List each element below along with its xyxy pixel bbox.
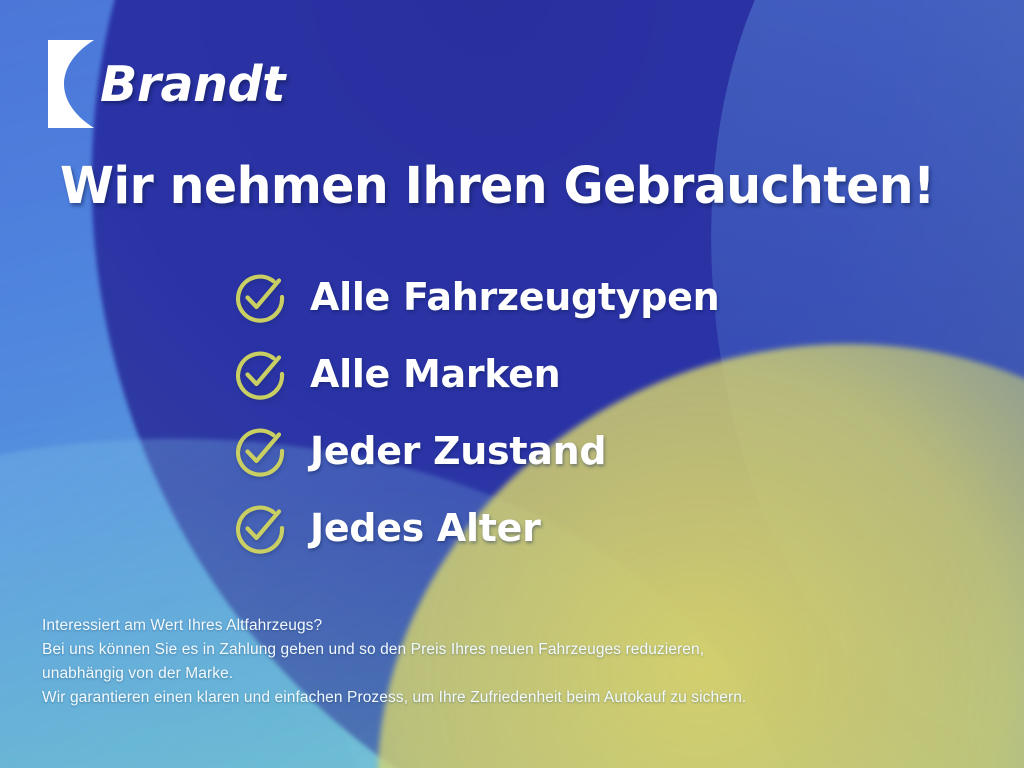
list-item-label: Jeder Zustand <box>310 432 606 470</box>
bracket-crescent-icon <box>48 40 94 128</box>
body-line-2: Bei uns können Sie es in Zahlung geben u… <box>42 638 746 662</box>
body-line-1: Interessiert am Wert Ihres Altfahrzeugs? <box>42 614 746 638</box>
list-item: Jeder Zustand <box>232 412 719 489</box>
body-copy: Interessiert am Wert Ihres Altfahrzeugs?… <box>42 614 746 710</box>
check-circle-icon <box>232 423 288 479</box>
brand-logo: Brandt <box>48 38 285 130</box>
check-circle-icon <box>232 346 288 402</box>
list-item-label: Alle Marken <box>310 355 560 393</box>
promo-banner: Brandt Wir nehmen Ihren Gebrauchten! All… <box>0 0 1024 768</box>
page-title: Wir nehmen Ihren Gebrauchten! <box>60 160 935 214</box>
check-circle-icon <box>232 500 288 556</box>
feature-list: Alle Fahrzeugtypen Alle Marken Jeder Zus… <box>232 258 719 566</box>
brand-name: Brandt <box>100 60 285 109</box>
list-item: Alle Fahrzeugtypen <box>232 258 719 335</box>
list-item: Alle Marken <box>232 335 719 412</box>
body-line-4: Wir garantieren einen klaren und einfach… <box>42 686 746 710</box>
body-line-3: unabhängig von der Marke. <box>42 662 746 686</box>
banner-content: Brandt Wir nehmen Ihren Gebrauchten! All… <box>0 0 1024 768</box>
list-item-label: Jedes Alter <box>310 509 541 547</box>
list-item-label: Alle Fahrzeugtypen <box>310 278 719 316</box>
list-item: Jedes Alter <box>232 489 719 566</box>
check-circle-icon <box>232 269 288 325</box>
